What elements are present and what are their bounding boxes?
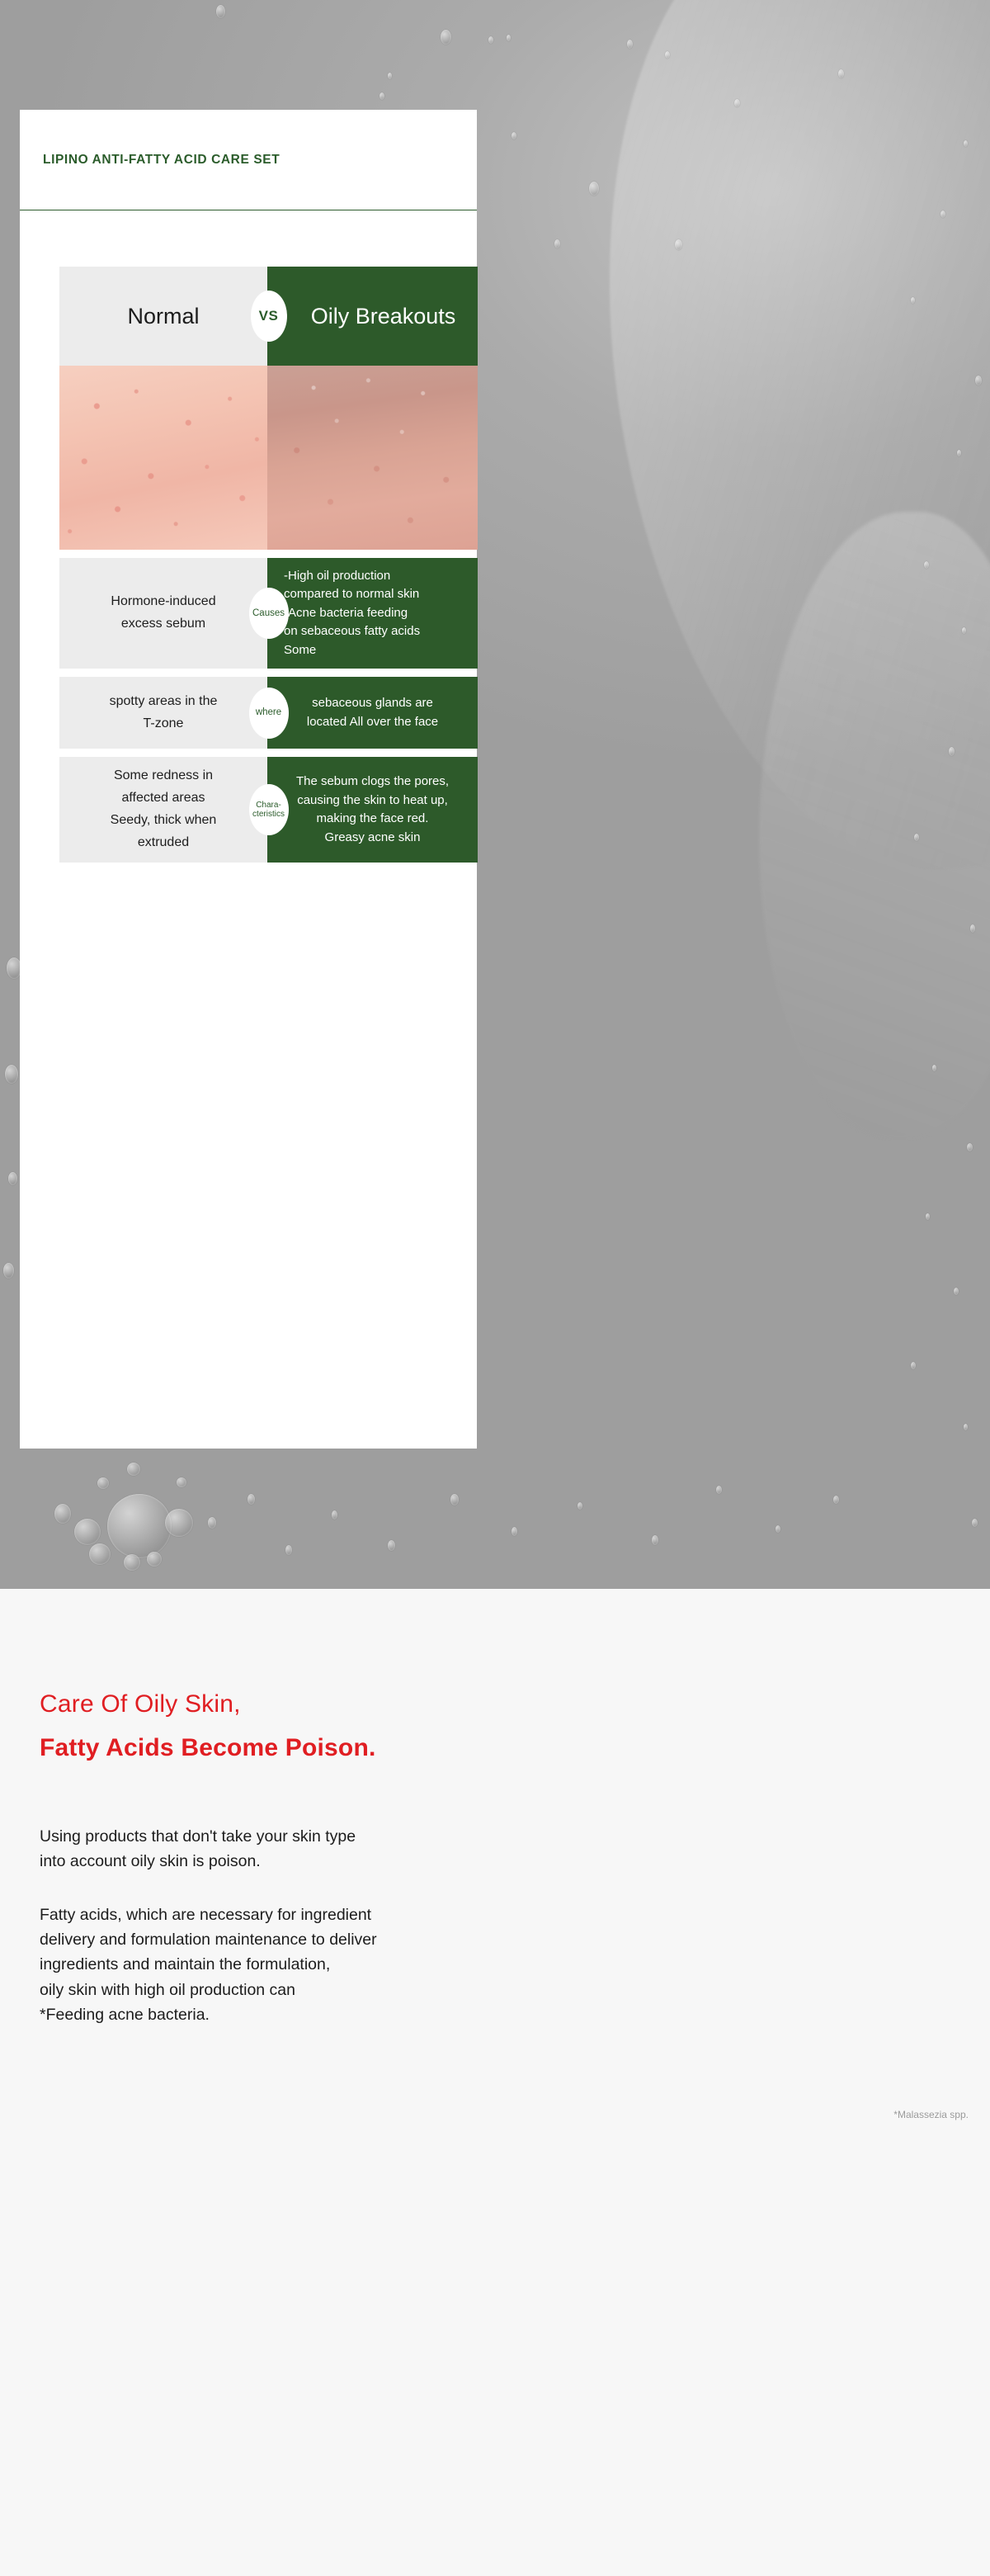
- bubble-icon: [127, 1463, 140, 1476]
- bubble-icon: [970, 924, 975, 933]
- characteristics-right-line: making the face red.: [317, 810, 429, 829]
- skin-photo-normal: [59, 366, 267, 550]
- causes-right-cell: -High oil production compared to normal …: [267, 558, 478, 669]
- row-badge-characteristics-label-line2: cteristics: [252, 810, 285, 819]
- characteristics-right-cell: The sebum clogs the pores, causing the s…: [267, 757, 478, 863]
- characteristics-right-line: The sebum clogs the pores,: [296, 773, 449, 792]
- bubble-icon: [949, 747, 955, 756]
- bubble-icon: [147, 1552, 162, 1567]
- product-info-card: LIPINO ANTI-FATTY ACID CARE SET Normal O…: [20, 110, 477, 1449]
- bubble-icon: [208, 1517, 216, 1529]
- paragraph-2-line: Fatty acids, which are necessary for ing…: [40, 1902, 377, 1927]
- bubble-icon: [962, 627, 966, 634]
- bubble-icon: [388, 1540, 395, 1551]
- vs-badge-label: VS: [259, 309, 279, 324]
- causes-right-line: -Acne bacteria feeding: [284, 604, 408, 623]
- bottom-content-section: Care Of Oily Skin, Fatty Acids Become Po…: [0, 1589, 990, 2576]
- causes-right-line: on sebaceous fatty acids: [284, 622, 420, 641]
- bubble-icon: [379, 92, 384, 100]
- column-label-normal: Normal: [127, 304, 199, 329]
- bubble-icon: [450, 1494, 459, 1505]
- bubble-icon: [627, 40, 633, 49]
- bubble-icon: [74, 1519, 101, 1545]
- where-right-line: sebaceous glands are: [312, 694, 433, 713]
- comparison-row-where: spotty areas in the T-zone sebaceous gla…: [59, 677, 478, 749]
- bubble-icon: [177, 1477, 186, 1487]
- comparison-row-characteristics: Some redness in affected areas Seedy, th…: [59, 757, 478, 863]
- bubble-icon: [975, 376, 982, 385]
- causes-right-line: compared to normal skin: [284, 585, 419, 604]
- comparison-row-causes: Hormone-induced excess sebum -High oil p…: [59, 558, 478, 669]
- bubble-icon: [833, 1496, 839, 1504]
- bubble-icon: [488, 36, 493, 44]
- bubble-icon: [665, 51, 670, 59]
- paragraph-2-line: oily skin with high oil production can: [40, 1978, 377, 2002]
- bubble-icon: [507, 35, 511, 41]
- bubble-icon: [940, 210, 945, 218]
- skin-texture-oily: [267, 366, 478, 550]
- bubble-icon: [932, 1065, 936, 1071]
- column-label-oily: Oily Breakouts: [290, 304, 456, 329]
- bubble-icon: [577, 1502, 582, 1510]
- where-right-line: located All over the face: [307, 713, 438, 732]
- headline-line-1: Care Of Oily Skin,: [40, 1690, 241, 1718]
- causes-left-line: Hormone-induced: [111, 591, 215, 613]
- bubble-icon: [511, 132, 516, 139]
- row-badge-where: where: [249, 688, 289, 739]
- comparison-table: Normal Oily Breakouts VS: [59, 267, 478, 871]
- paragraph-2-line: *Feeding acne bacteria.: [40, 2002, 377, 2027]
- bubble-icon: [964, 140, 968, 147]
- bubble-icon: [926, 1213, 930, 1220]
- causes-right-line: -High oil production: [284, 567, 390, 586]
- characteristics-left-line: affected areas: [121, 787, 205, 810]
- bubble-icon: [54, 1504, 71, 1524]
- headline-line-2: Fatty Acids Become Poison.: [40, 1734, 376, 1762]
- characteristics-right-line: Greasy acne skin: [325, 829, 421, 848]
- row-badge-causes-label: Causes: [252, 608, 285, 619]
- bubble-icon: [911, 297, 915, 304]
- where-left-line: spotty areas in the: [110, 691, 218, 713]
- where-right-cell: sebaceous glands are located All over th…: [267, 677, 478, 749]
- row-badge-causes: Causes: [249, 588, 289, 639]
- vs-badge: VS: [251, 291, 287, 342]
- bubble-icon: [388, 73, 392, 79]
- bubble-icon: [124, 1554, 140, 1571]
- where-left-cell: spotty areas in the T-zone: [59, 677, 267, 749]
- bubble-icon: [924, 561, 929, 569]
- bubble-icon: [97, 1477, 109, 1489]
- skin-photo-oily: [267, 366, 478, 550]
- bubble-icon: [911, 1362, 916, 1369]
- bubble-icon: [511, 1527, 517, 1536]
- paragraph-1-line: Using products that don't take your skin…: [40, 1824, 356, 1849]
- bubble-icon: [216, 5, 225, 18]
- where-left-line: T-zone: [144, 713, 184, 735]
- bubble-icon: [247, 1494, 255, 1505]
- bubble-icon: [332, 1510, 337, 1520]
- row-badge-where-label: where: [256, 707, 281, 718]
- causes-left-cell: Hormone-induced excess sebum: [59, 558, 267, 669]
- bubble-icon: [716, 1486, 722, 1494]
- characteristics-left-line: extruded: [138, 832, 189, 854]
- causes-right-line: Some: [284, 641, 316, 660]
- bubble-icon: [554, 239, 560, 248]
- footnote: *Malassezia spp.: [893, 2109, 969, 2120]
- characteristics-right-line: causing the skin to heat up,: [297, 792, 448, 811]
- bubble-icon: [589, 182, 599, 196]
- bubble-icon: [165, 1509, 193, 1537]
- bubble-icon: [954, 1288, 959, 1295]
- comparison-header-right: Oily Breakouts: [267, 267, 478, 366]
- paragraph-2-line: delivery and formulation maintenance to …: [40, 1927, 377, 1952]
- bubble-icon: [972, 1519, 978, 1527]
- characteristics-left-line: Some redness in: [114, 765, 213, 787]
- bubble-icon: [3, 1263, 14, 1279]
- characteristics-left-cell: Some redness in affected areas Seedy, th…: [59, 757, 267, 863]
- skin-texture-normal: [59, 366, 267, 550]
- characteristics-left-line: Seedy, thick when: [111, 810, 217, 832]
- card-header: LIPINO ANTI-FATTY ACID CARE SET: [20, 110, 477, 210]
- comparison-photo-row: [59, 366, 478, 550]
- bubble-icon: [5, 1065, 18, 1084]
- paragraph-2-line: ingredients and maintain the formulation…: [40, 1952, 377, 1977]
- bubble-icon: [285, 1545, 292, 1555]
- comparison-header-row: Normal Oily Breakouts VS: [59, 267, 478, 366]
- bubble-icon: [838, 69, 844, 78]
- bubble-icon: [441, 30, 451, 45]
- comparison-header-left: Normal: [59, 267, 267, 366]
- bubble-icon: [652, 1535, 658, 1545]
- bubble-icon: [675, 239, 682, 250]
- bubble-icon: [964, 1424, 968, 1430]
- bubble-icon: [914, 834, 919, 841]
- row-badge-characteristics: Chara- cteristics: [249, 784, 289, 835]
- row-badge-characteristics-label-line1: Chara-: [252, 801, 285, 810]
- page-title: LIPINO ANTI-FATTY ACID CARE SET: [43, 153, 280, 168]
- bubble-icon: [734, 99, 740, 107]
- paragraph-2: Fatty acids, which are necessary for ing…: [40, 1902, 377, 2027]
- paragraph-1: Using products that don't take your skin…: [40, 1824, 356, 1874]
- bubble-icon: [967, 1143, 973, 1151]
- bubble-icon: [775, 1525, 780, 1533]
- paragraph-1-line: into account oily skin is poison.: [40, 1849, 356, 1874]
- causes-left-line: excess sebum: [121, 613, 205, 636]
- bubble-icon: [89, 1543, 111, 1565]
- bubble-icon: [8, 1172, 17, 1185]
- bubble-icon: [957, 450, 961, 456]
- hero-background: LIPINO ANTI-FATTY ACID CARE SET Normal O…: [0, 0, 990, 1589]
- bubble-icon: [107, 1494, 172, 1558]
